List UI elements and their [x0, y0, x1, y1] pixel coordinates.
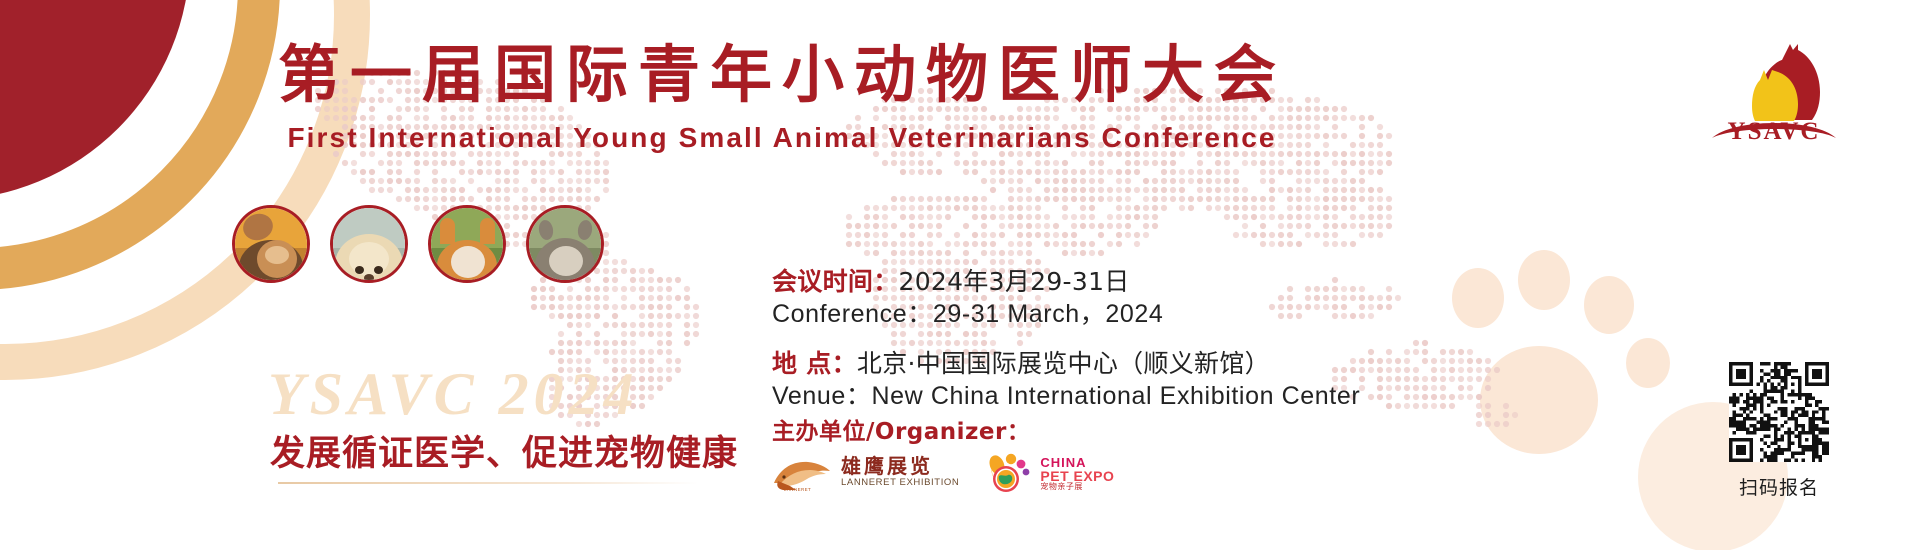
- expo-line-3: 宠物亲子展: [1040, 483, 1114, 491]
- date-line: 会议时间：2024年3月29-31日: [772, 265, 1360, 298]
- pet-photo-corgi: [428, 205, 506, 283]
- organizer-name-cn: 雄鹰展览: [841, 456, 959, 477]
- decor-paw-toe-2: [1518, 250, 1570, 310]
- pet-photo-puppy: [330, 205, 408, 283]
- paw-globe-logo-icon: [987, 452, 1033, 494]
- date-label: 会议时间：: [772, 267, 899, 296]
- pet-photo-kitten: [232, 205, 310, 283]
- eagle-logo-icon: LANNERET: [770, 453, 834, 493]
- organizer-lanneret-text: 雄鹰展览 LANNERET EXHIBITION: [841, 456, 959, 489]
- date-line-en: Conference：29-31 March，2024: [772, 298, 1360, 331]
- slogan-text: 发展循证医学、促进宠物健康: [270, 425, 738, 476]
- venue-label: 地 点：: [772, 349, 857, 378]
- venue-line-en: Venue：New China International Exhibition…: [772, 380, 1360, 413]
- qr-code-icon[interactable]: [1729, 362, 1829, 462]
- decor-paw-toe-3: [1584, 276, 1634, 334]
- registration-qr-block[interactable]: 扫码报名: [1726, 362, 1832, 500]
- ysavc-wordmark: YSAVC 2024: [268, 360, 639, 429]
- conference-banner: 第一届国际青年小动物医师大会 First International Young…: [0, 0, 1920, 550]
- organizer-name-en: LANNERET EXHIBITION: [841, 477, 959, 489]
- date-value: 2024年3月29-31日: [899, 267, 1130, 296]
- pet-photo-cat: [526, 205, 604, 283]
- organizer-logo-row: LANNERET 雄鹰展览 LANNERET EXHIBITION CHINA: [770, 452, 1114, 494]
- conference-info-block: 会议时间：2024年3月29-31日 Conference：29-31 Marc…: [772, 265, 1360, 413]
- page-title-en: First International Young Small Animal V…: [222, 122, 1342, 154]
- expo-line-2: PET EXPO: [1040, 469, 1114, 483]
- page-title-cn: 第一届国际青年小动物医师大会: [222, 44, 1342, 106]
- decor-paw-toe-1: [1452, 268, 1504, 328]
- svg-text:LANNERET: LANNERET: [784, 487, 811, 492]
- expo-line-1: CHINA: [1040, 456, 1114, 469]
- headline-block: 第一届国际青年小动物医师大会 First International Young…: [222, 44, 1342, 154]
- organizer-heading: 主办单位/Organizer：: [772, 412, 1030, 446]
- organizer-lanneret: LANNERET 雄鹰展览 LANNERET EXHIBITION: [770, 453, 959, 493]
- slogan-divider: [278, 482, 698, 484]
- decor-arc-red: [0, 0, 190, 200]
- china-pet-expo-text: CHINA PET EXPO 宠物亲子展: [1040, 456, 1114, 491]
- organizer-china-pet-expo: CHINA PET EXPO 宠物亲子展: [987, 452, 1114, 494]
- decor-paw-toe-4: [1626, 338, 1670, 388]
- qr-caption: 扫码报名: [1726, 473, 1832, 500]
- ysavc-logo-acronym: YSAVC: [1694, 118, 1854, 146]
- decor-paw-pad-main: [1480, 346, 1598, 454]
- venue-line: 地 点：北京·中国国际展览中心（顺义新馆）: [772, 347, 1360, 380]
- pet-photo-strip: [232, 205, 604, 283]
- venue-value: 北京·中国国际展览中心（顺义新馆）: [857, 349, 1270, 378]
